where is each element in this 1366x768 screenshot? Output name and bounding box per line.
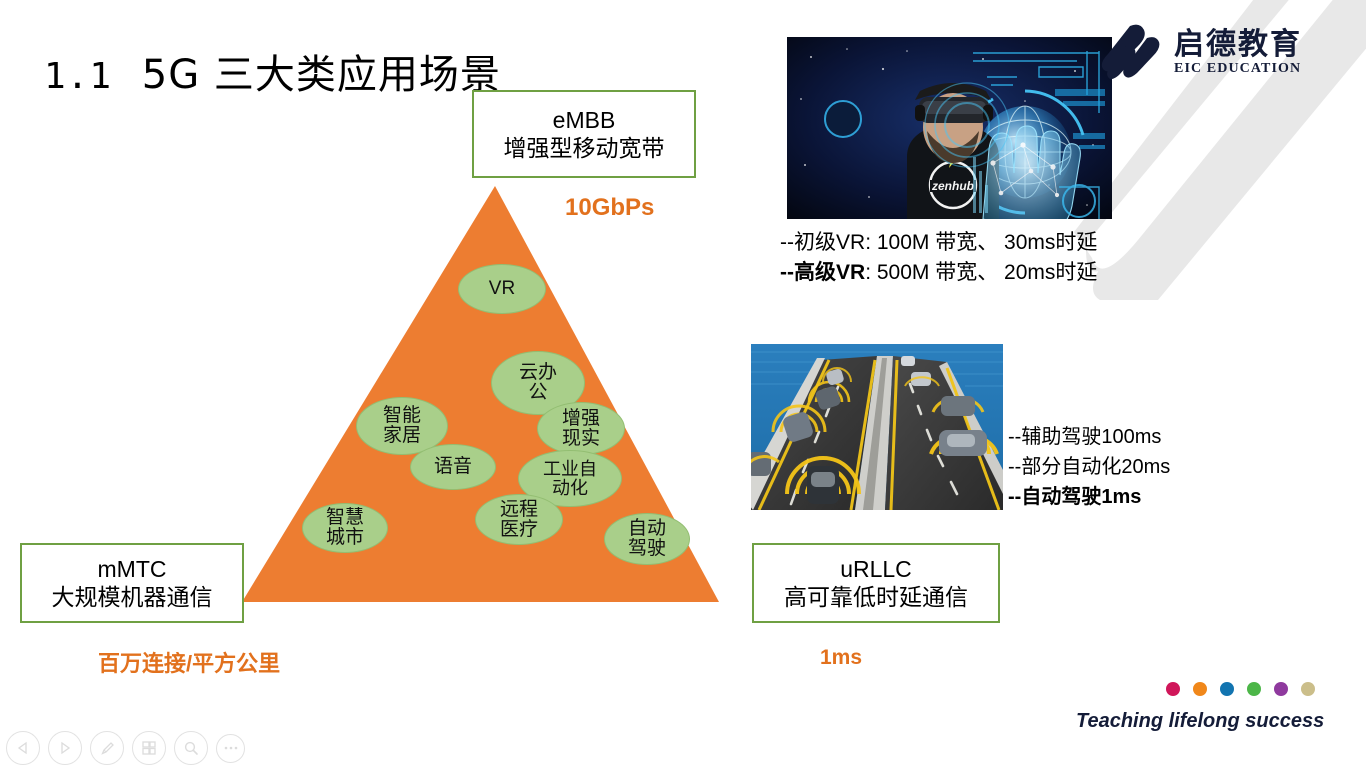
presentation-toolbar[interactable] [6,731,245,765]
brand-wordmark: 启德教育 EIC EDUCATION [1174,29,1302,77]
mmtc-chinese-name: 大规模机器通信 [52,583,213,611]
triangle-right-icon [58,741,72,755]
bullet-keyword: 初级VR [794,231,865,254]
triangle-left-icon [16,741,30,755]
mmtc-kpi-value: 百万连接/平方公里 [98,646,280,678]
use-case-bubble-label: 自动驾驶 [628,519,666,559]
urllc-chinese-name: 高可靠低时延通信 [784,583,968,611]
bullet-keyword: 高级VR [794,261,865,284]
urllc-acronym: uRLLC [840,555,912,583]
brand-tagline: Teaching lifelong success [1076,710,1324,733]
use-case-bubble-label: 云办公 [519,363,557,403]
autonomous-driving-highway-photo [751,344,1003,510]
embb-label-box[interactable]: eMBB 增强型移动宽带 [472,90,696,178]
brand-color-dot [1166,682,1180,696]
more-options-button[interactable] [216,734,245,763]
use-case-bubble-label: 远程医疗 [500,500,538,540]
urllc-kpi-value: 1ms [820,646,862,670]
driving-bullet-assisted: --辅助驾驶100ms [1008,422,1170,452]
driving-bullet-autonomous: --自动驾驶1ms [1008,482,1170,512]
use-case-bubble-label: 语音 [434,457,472,477]
brand-color-dot [1193,682,1207,696]
use-case-bubble[interactable]: 远程医疗 [475,494,563,545]
eic-logo-mark [1100,23,1164,84]
mmtc-acronym: mMTC [98,555,167,583]
use-case-bubble[interactable]: 语音 [410,444,496,490]
use-case-bubble-label: VR [489,279,515,299]
zoom-tool-button[interactable] [174,731,208,765]
brand-color-dot [1247,682,1261,696]
embb-acronym: eMBB [553,106,616,134]
use-case-bubble-label: 增强现实 [562,409,600,449]
use-case-bubble-label: 智能家居 [383,406,421,446]
title-text: 5G 三大类应用场景 [142,52,501,98]
driving-bullet-partial: --部分自动化20ms [1008,452,1170,482]
bullet-detail: : 100M 带宽、 30ms时延 [865,231,1097,254]
embb-chinese-name: 增强型移动宽带 [504,134,665,162]
vr-bullet-basic: --初级VR: 100M 带宽、 30ms时延 [780,228,1097,258]
use-case-bubble-label: 工业自动化 [543,460,597,497]
ellipsis-icon [223,745,239,751]
embb-kpi-value: 10GbPs [565,194,654,222]
driving-latency-bullets: --辅助驾驶100ms --部分自动化20ms --自动驾驶1ms [1008,422,1170,512]
vr-latency-bullets: --初级VR: 100M 带宽、 30ms时延 --高级VR: 500M 带宽、… [780,228,1097,288]
pen-icon [99,740,116,757]
brand-name-chinese: 启德教育 [1174,29,1302,61]
pen-tool-button[interactable] [90,731,124,765]
use-case-bubble-label: 智慧城市 [326,508,364,548]
bullet-prefix: -- [780,261,794,284]
search-icon [183,740,199,756]
bullet-detail: : 500M 带宽、 20ms时延 [865,261,1097,284]
slide-grid-button[interactable] [132,731,166,765]
previous-slide-button[interactable] [6,731,40,765]
use-case-bubble[interactable]: 智慧城市 [302,503,388,553]
next-slide-button[interactable] [48,731,82,765]
brand-color-dot [1301,682,1315,696]
brand-color-dots [1166,682,1315,696]
page-title: 1.1 5G 三大类应用场景 [44,42,501,100]
mmtc-label-box[interactable]: mMTC 大规模机器通信 [20,543,244,623]
use-case-bubble[interactable]: VR [458,264,546,314]
vr-bullet-advanced: --高级VR: 500M 带宽、 20ms时延 [780,258,1097,288]
grid-layout-icon [141,740,157,756]
brand-color-dot [1274,682,1288,696]
brand-color-dot [1220,682,1234,696]
brand-logo: 启德教育 EIC EDUCATION [1100,22,1336,84]
urllc-label-box[interactable]: uRLLC 高可靠低时延通信 [752,543,1000,623]
use-case-bubble[interactable]: 自动驾驶 [604,513,690,565]
use-case-bubble[interactable]: 增强现实 [537,402,625,455]
vr-headset-user-photo: zenhub [787,37,1112,219]
brand-name-english: EIC EDUCATION [1174,61,1302,77]
bullet-prefix: -- [780,231,794,254]
svg-text:zenhub: zenhub [931,179,974,193]
title-number: 1.1 [44,56,112,97]
